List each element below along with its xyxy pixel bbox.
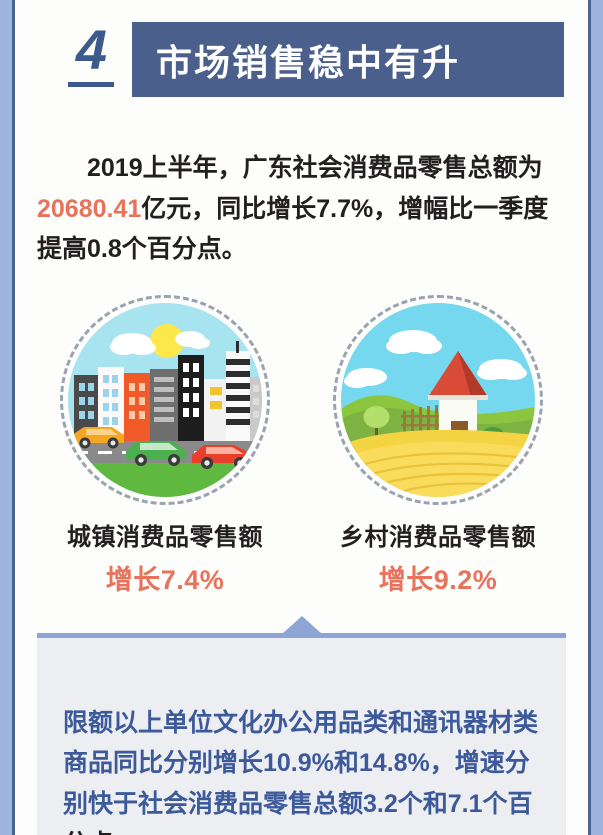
intro-text-part1: 2019上半年，广东社会消费品零售总额为 <box>87 154 543 182</box>
infographic-page: 4 市场销售稳中有升 2019上半年，广东社会消费品零售总额为20680.41亿… <box>0 0 603 835</box>
callout-paragraph: 限额以上单位文化办公用品类和通讯器材类商品同比分别增长10.9%和14.8%，增… <box>63 703 540 835</box>
urban-circle <box>60 295 270 505</box>
callout-body: 限额以上单位文化办公用品类和通讯器材类商品同比分别增长10.9%和14.8%，增… <box>37 638 566 835</box>
urban-circle-dashed-border <box>60 295 270 505</box>
section-title-bar: 市场销售稳中有升 <box>132 22 564 97</box>
callout-panel: 限额以上单位文化办公用品类和通讯器材类商品同比分别增长10.9%和14.8%，增… <box>37 633 566 835</box>
stat-value-rural: 增长9.2% <box>321 558 556 597</box>
rural-circle-dashed-border <box>333 295 543 505</box>
stat-label-rural: 乡村消费品零售额 <box>321 517 556 552</box>
callout-text-blue: 限额以上单位文化办公用品类和通讯器材类商品同比分别增长10.9%和14.8%，增… <box>63 709 538 818</box>
section-number-badge: 4 <box>60 22 122 87</box>
section-number: 4 <box>60 22 122 78</box>
section-number-underline <box>68 82 114 87</box>
page-title: 市场销售稳中有升 <box>132 34 460 86</box>
left-edge-stripe <box>0 0 12 835</box>
rural-circle <box>333 295 543 505</box>
stat-value-urban: 增长7.4% <box>48 558 283 597</box>
callout-text-dark: 分点。 <box>63 830 138 835</box>
callout-arrow-icon <box>282 616 322 634</box>
intro-paragraph: 2019上半年，广东社会消费品零售总额为20680.41亿元，同比增长7.7%，… <box>15 140 588 270</box>
section-header: 4 市场销售稳中有升 <box>15 0 588 115</box>
intro-highlight-value: 20680.41 <box>37 195 141 223</box>
stat-label-urban: 城镇消费品零售额 <box>48 517 283 552</box>
stat-block-rural: 乡村消费品零售额 增长9.2% <box>321 295 556 597</box>
stats-row: 城镇消费品零售额 增长7.4% <box>15 295 588 597</box>
right-edge-rule <box>588 0 591 835</box>
right-edge-stripe <box>591 0 603 835</box>
stat-block-urban: 城镇消费品零售额 增长7.4% <box>48 295 283 597</box>
content-column: 4 市场销售稳中有升 2019上半年，广东社会消费品零售总额为20680.41亿… <box>15 0 588 835</box>
